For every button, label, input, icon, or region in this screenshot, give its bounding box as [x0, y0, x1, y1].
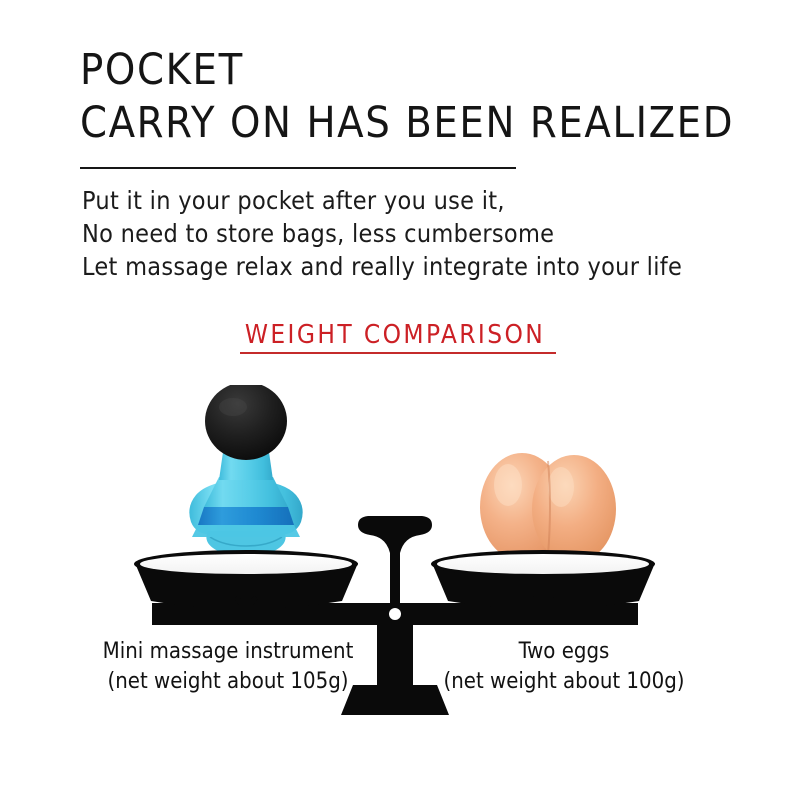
title-divider	[80, 167, 516, 169]
massage-device-graphic	[174, 385, 318, 567]
caption-left-label: Mini massage instrument	[68, 637, 388, 667]
left-pan	[134, 550, 358, 609]
body-line-3: Let massage relax and really integrate i…	[82, 250, 772, 283]
caption-left-item: Mini massage instrument (net weight abou…	[68, 637, 388, 697]
section-header: WEIGHT COMPARISON	[0, 320, 790, 350]
body-copy: Put it in your pocket after you use it, …	[82, 184, 772, 283]
caption-right-item: Two eggs (net weight about 100g)	[404, 637, 724, 697]
section-underline	[240, 352, 556, 354]
caption-right-label: Two eggs	[404, 637, 724, 667]
body-line-2: No need to store bags, less cumbersome	[82, 217, 772, 250]
caption-left-weight: (net weight about 105g)	[68, 667, 388, 697]
body-line-1: Put it in your pocket after you use it,	[82, 184, 772, 217]
heading-line-1: POCKET	[80, 44, 760, 97]
section-title: WEIGHT COMPARISON	[245, 320, 545, 350]
page-heading: POCKET CARRY ON HAS BEEN REALIZED	[80, 44, 760, 150]
heading-line-2: CARRY ON HAS BEEN REALIZED	[80, 97, 760, 150]
caption-right-weight: (net weight about 100g)	[404, 667, 724, 697]
right-pan	[431, 550, 655, 609]
eggs-graphic	[480, 453, 616, 565]
